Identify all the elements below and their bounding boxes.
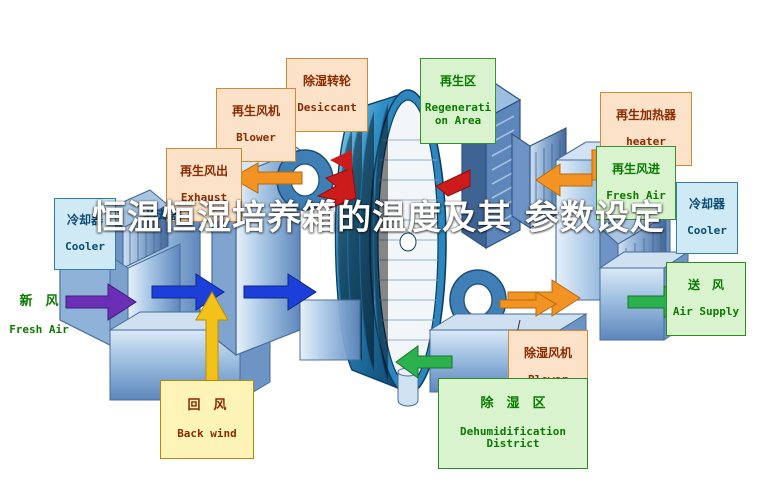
label-regen-fresh: 再生风进 Fresh Air: [596, 146, 676, 220]
label-cooler-mid: 冷却器: [136, 196, 192, 236]
label-dehum-district: 除 湿 区 Dehumidification District: [438, 378, 588, 469]
label-supply-air-en: Air Supply: [669, 306, 743, 318]
label-back-wind-cn: 回 风: [163, 399, 251, 414]
label-cooler-left-en: Cooler: [57, 241, 113, 253]
label-cooler-right-cn: 冷却器: [679, 198, 735, 211]
label-regen-fresh-cn: 再生风进: [599, 163, 673, 176]
label-fresh-air-en: Fresh Air: [2, 324, 76, 336]
label-dehum-district-en: Dehumidification District: [441, 426, 585, 451]
label-dehum-blower-cn: 除湿风机: [511, 347, 585, 360]
label-dehum-district-cn: 除 湿 区: [441, 397, 585, 412]
label-cooler-left: 冷却器 Cooler: [54, 198, 116, 270]
label-desiccant-en: Desiccant: [289, 102, 365, 114]
label-desiccant-cn: 除湿转轮: [289, 75, 365, 88]
label-regen-area-cn: 再生区: [423, 75, 493, 88]
label-back-wind-en: Back wind: [163, 428, 251, 440]
label-cooler-right-en: Cooler: [679, 225, 735, 237]
label-cooler-left-cn: 冷却器: [57, 214, 113, 227]
label-regen-fresh-en: Fresh Air: [599, 190, 673, 202]
label-supply-air: 送 风 Air Supply: [666, 262, 746, 336]
label-back-wind: 回 风 Back wind: [160, 380, 254, 459]
label-regen-area: 再生区 Regenerati on Area: [420, 58, 496, 144]
label-regen-blower-en: Blower: [219, 132, 293, 144]
label-regen-area-en: Regenerati on Area: [423, 102, 493, 127]
label-regen-blower-cn: 再生风机: [219, 105, 293, 118]
label-cooler-right: 冷却器 Cooler: [676, 182, 738, 254]
label-cooler-mid-cn: 冷却器: [136, 209, 192, 222]
label-fresh-air-cn: 新 风: [2, 295, 76, 310]
label-regen-exhaust-cn: 再生风出: [169, 165, 239, 178]
label-fresh-air: 新 风 Fresh Air: [2, 280, 76, 351]
dehumidifier-diagram: 除湿转轮 Desiccant 再生风机 Blower 再生区 Regenerat…: [0, 0, 757, 488]
label-desiccant: 除湿转轮 Desiccant: [286, 58, 368, 132]
label-supply-air-cn: 送 风: [669, 279, 743, 292]
label-regen-heater-cn: 再生加热器: [603, 109, 689, 122]
